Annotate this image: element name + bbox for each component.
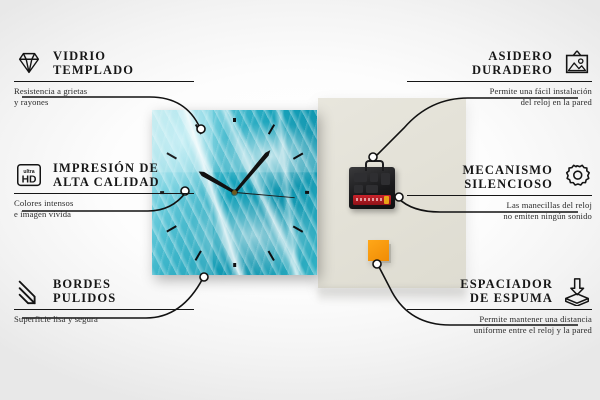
clock-movement-mechanism — [349, 167, 395, 209]
foam-spacer-pad — [368, 240, 389, 261]
feature-bordes-pulidos: BORDES PULIDOS Superficie lisa y segura — [14, 276, 194, 325]
feature-title-line2: ALTA CALIDAD — [53, 175, 160, 190]
feature-desc-line1: Superficie lisa y segura — [14, 314, 194, 325]
movement-detail — [366, 185, 378, 193]
diagonal-lines-icon — [14, 276, 44, 306]
feature-mecanismo-silencioso: MECANISMO SILENCIOSO Las manecillas del … — [407, 162, 592, 221]
feature-desc-line2: uniforme entre el reloj y la pared — [407, 325, 592, 336]
feature-desc-line1: Colores intensos — [14, 198, 194, 209]
feature-title-line2: DURADERO — [472, 63, 553, 78]
feature-vidrio-templado: VIDRIO TEMPLADO Resistencia a grietas y … — [14, 48, 194, 107]
feature-desc-line1: Resistencia a grietas — [14, 86, 194, 97]
feature-desc-line2: no emiten ningún sonido — [407, 211, 592, 222]
feature-title-line1: ASIDERO — [472, 49, 553, 64]
feature-desc-line2: del reloj en la pared — [407, 97, 592, 108]
ultra-hd-badge-icon: ultra HD — [14, 160, 44, 190]
feature-title-line1: MECANISMO — [463, 163, 553, 178]
infographic-stage: VIDRIO TEMPLADO Resistencia a grietas y … — [0, 0, 600, 400]
gear-icon — [562, 162, 592, 192]
movement-detail — [370, 173, 378, 182]
ultra-hd-badge-main-text: HD — [22, 175, 37, 186]
feature-title-line2: TEMPLADO — [53, 63, 134, 78]
feature-desc-line2: e imagen vívida — [14, 209, 194, 220]
movement-detail — [354, 185, 363, 193]
feature-rule — [407, 195, 592, 196]
feature-title-line1: IMPRESIÓN DE — [53, 161, 160, 176]
feature-asidero-duradero: ASIDERO DURADERO Permite una fácil insta… — [407, 48, 592, 107]
feature-title-line2: SILENCIOSO — [463, 177, 553, 192]
feature-rule — [407, 309, 592, 310]
feature-rule — [407, 81, 592, 82]
feature-desc-line1: Permite mantener una distancia — [407, 314, 592, 325]
movement-detail — [381, 173, 390, 185]
feature-title-line1: ESPACIADOR — [460, 277, 553, 292]
movement-hanger-hook — [365, 160, 384, 171]
feature-impresion-alta-calidad: ultra HD IMPRESIÓN DE ALTA CALIDAD Color… — [14, 160, 194, 219]
aa-battery — [353, 195, 391, 205]
feature-espaciador-de-espuma: ESPACIADOR DE ESPUMA Permite mantener un… — [407, 276, 592, 335]
feature-title-line2: DE ESPUMA — [460, 291, 553, 306]
battery-positive-terminal — [384, 196, 389, 204]
feature-rule — [14, 193, 194, 194]
picture-frame-hanging-icon — [562, 48, 592, 78]
feature-title-line1: VIDRIO — [53, 49, 134, 64]
feature-desc-line1: Las manecillas del reloj — [407, 200, 592, 211]
feature-rule — [14, 81, 194, 82]
feature-rule — [14, 309, 194, 310]
arrow-down-on-foam-icon — [562, 276, 592, 306]
feature-desc-line2: y rayones — [14, 97, 194, 108]
feature-desc-line1: Permite una fácil instalación — [407, 86, 592, 97]
feature-title-line1: BORDES — [53, 277, 116, 292]
diamond-icon — [14, 48, 44, 78]
battery-label-stripe — [356, 198, 382, 201]
movement-detail — [354, 173, 367, 182]
feature-title-line2: PULIDOS — [53, 291, 116, 306]
